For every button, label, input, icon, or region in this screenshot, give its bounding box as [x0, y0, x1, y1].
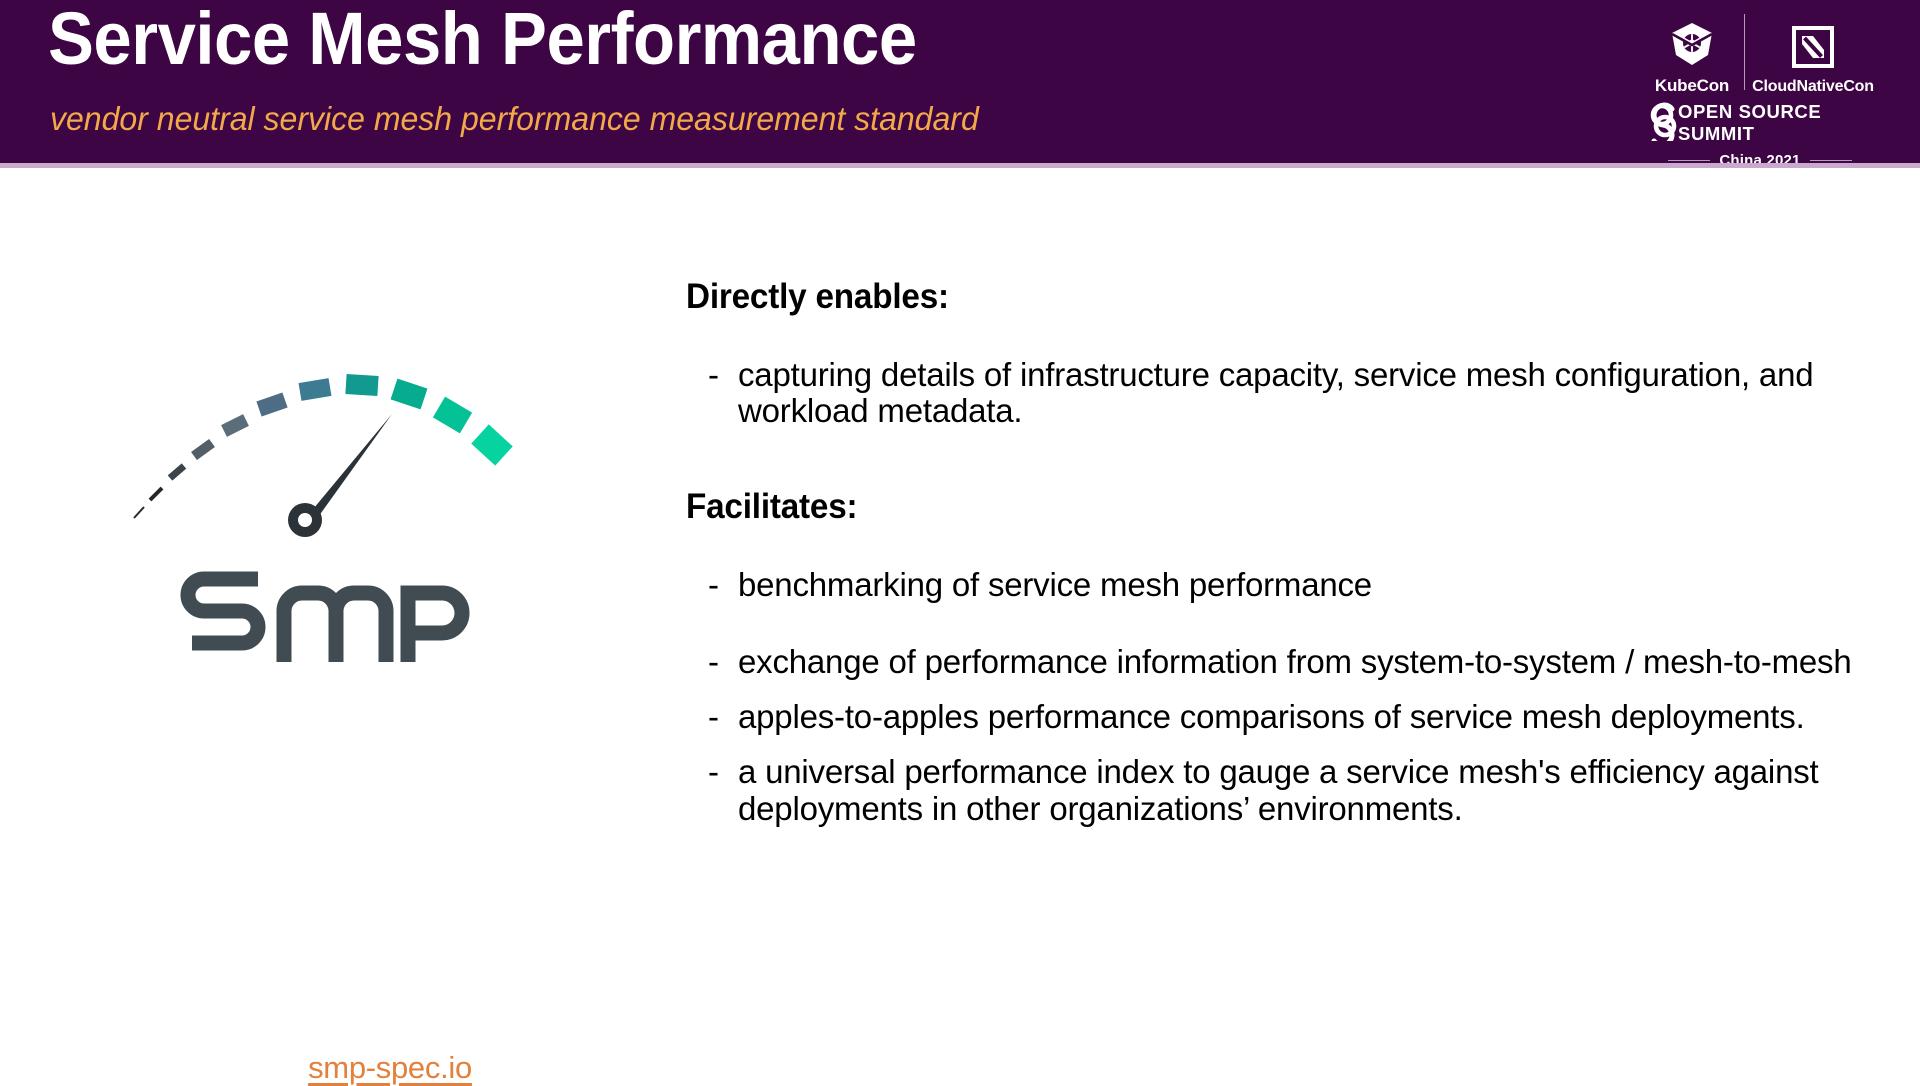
- kubecon-label: KubeCon: [1640, 77, 1744, 96]
- bullet-text: exchange of performance information from…: [738, 644, 1858, 681]
- open-source-summit-row: OPEN SOURCE SUMMIT: [1640, 99, 1880, 146]
- smp-gauge-icon: [120, 330, 540, 560]
- bullet-text: apples-to-apples performance comparisons…: [738, 699, 1858, 736]
- spacer: [686, 430, 1876, 488]
- spacer: [686, 317, 1876, 357]
- year-rule-left: [1668, 160, 1710, 161]
- bullet-list-directly-enables: - capturing details of infrastructure ca…: [686, 357, 1876, 431]
- smp-spec-link[interactable]: smp-spec.io: [120, 1050, 660, 1086]
- list-item: - apples-to-apples performance compariso…: [686, 699, 1876, 736]
- list-item: - capturing details of infrastructure ca…: [686, 357, 1876, 431]
- page-subtitle: vendor neutral service mesh performance …: [50, 102, 979, 135]
- summit-label: OPEN SOURCE SUMMIT: [1678, 101, 1880, 145]
- cloudnativecon-logo: CloudNativeCon: [1744, 20, 1880, 96]
- bullet-list-facilitates: - benchmarking of service mesh performan…: [686, 567, 1876, 828]
- smp-wordmark: SMP: [120, 566, 540, 681]
- spacer: [686, 527, 1876, 567]
- spacer: [686, 736, 1876, 754]
- page-title: Service Mesh Performance: [48, 2, 917, 76]
- kubernetes-helm-icon: [1640, 19, 1744, 73]
- spacer: [686, 604, 1876, 644]
- slide-header-bar: Service Mesh Performance vendor neutral …: [0, 0, 1920, 163]
- section-heading-facilitates: Facilitates:: [686, 488, 1817, 527]
- bullet-text: a universal performance index to gauge a…: [738, 754, 1858, 828]
- logo-divider: [1744, 14, 1745, 90]
- header-accent-rule: [0, 163, 1920, 168]
- bullet-marker: -: [686, 567, 738, 604]
- bullet-text: benchmarking of service mesh performance: [738, 567, 1858, 604]
- cloudnativecon-label: CloudNativeCon: [1746, 78, 1880, 96]
- list-item: - benchmarking of service mesh performan…: [686, 567, 1876, 604]
- spacer: [686, 681, 1876, 699]
- list-item: - a universal performance index to gauge…: [686, 754, 1876, 828]
- bullet-marker: -: [686, 357, 738, 394]
- bullet-marker: -: [686, 644, 738, 681]
- cncf-square-icon: [1746, 20, 1880, 74]
- year-rule-right: [1810, 160, 1852, 161]
- conference-logo-top-row: KubeCon CloudNativeCon: [1640, 8, 1880, 96]
- content-column: Directly enables: - capturing details of…: [686, 278, 1876, 828]
- kubecon-logo: KubeCon: [1640, 19, 1744, 96]
- list-item: - exchange of performance information fr…: [686, 644, 1876, 681]
- bullet-marker: -: [686, 699, 738, 736]
- smp-logo-block: SMP smp-spec.io: [120, 330, 540, 681]
- conference-logo-lockup: KubeCon CloudNativeCon: [1640, 8, 1880, 158]
- section-heading-directly-enables: Directly enables:: [686, 278, 1817, 317]
- bullet-marker: -: [686, 754, 738, 791]
- bullet-text: capturing details of infrastructure capa…: [738, 357, 1858, 431]
